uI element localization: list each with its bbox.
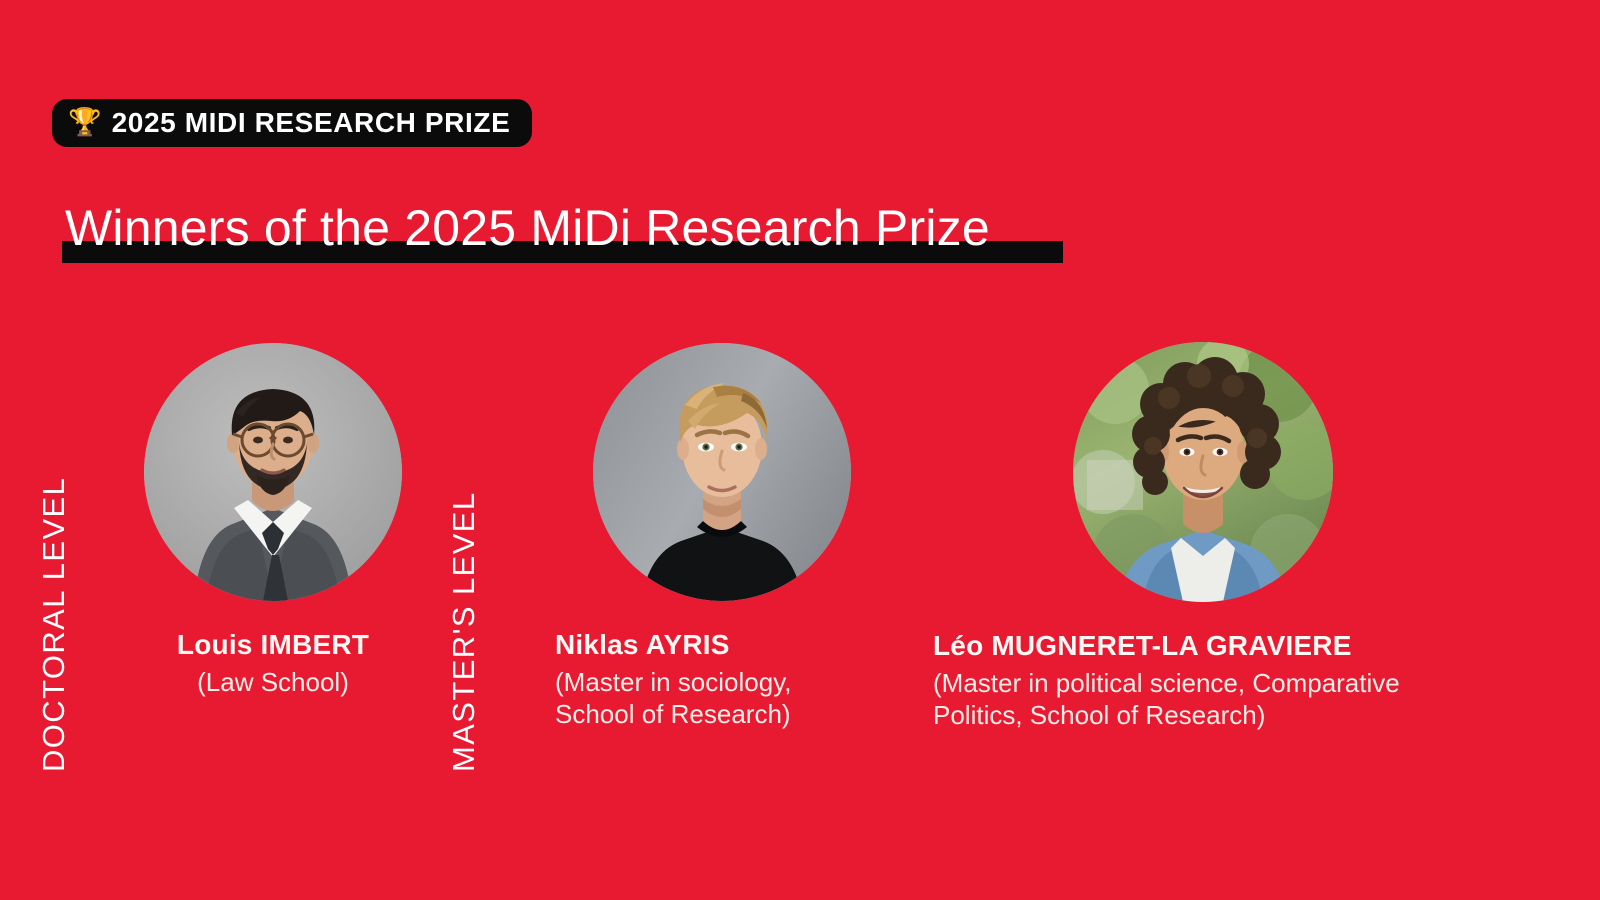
prize-badge-label: 2025 MIDI RESEARCH PRIZE xyxy=(112,107,511,139)
winner-affiliation: (Law School) xyxy=(144,666,402,698)
level-label-doctoral: DOCTORAL LEVEL xyxy=(36,477,72,772)
level-label-masters: MASTER'S LEVEL xyxy=(446,492,482,773)
avatar xyxy=(144,343,402,601)
winner-affiliation: (Master in political science, Comparativ… xyxy=(933,667,1400,731)
winner-name: Léo MUGNERET-LA GRAVIERE xyxy=(933,630,1400,662)
winner-name: Louis IMBERT xyxy=(144,629,402,661)
trophy-icon: 🏆 xyxy=(68,109,102,136)
page-title: Winners of the 2025 MiDi Research Prize xyxy=(62,196,1072,268)
winner-affiliation: (Master in sociology, School of Research… xyxy=(555,666,851,730)
winner-card: Louis IMBERT (Law School) xyxy=(144,343,402,698)
winner-name: Niklas AYRIS xyxy=(555,629,851,661)
page-title-text: Winners of the 2025 MiDi Research Prize xyxy=(65,196,990,260)
winner-card: Niklas AYRIS (Master in sociology, Schoo… xyxy=(593,343,851,730)
avatar xyxy=(593,343,851,601)
winner-card: Léo MUGNERET-LA GRAVIERE (Master in poli… xyxy=(1073,342,1400,731)
prize-badge: 🏆 2025 MIDI RESEARCH PRIZE xyxy=(52,99,532,147)
avatar xyxy=(1073,342,1333,602)
